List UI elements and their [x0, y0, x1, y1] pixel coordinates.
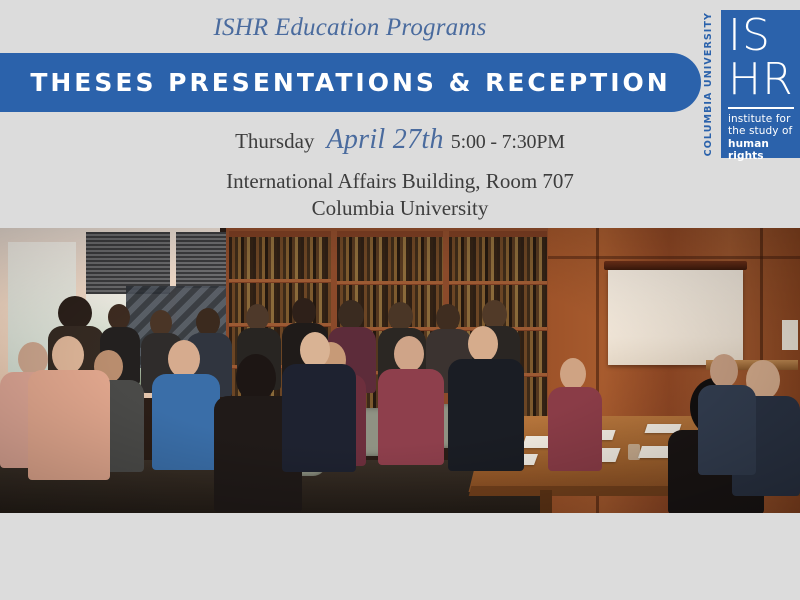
logo-divider — [728, 107, 794, 109]
event-weekday: Thursday — [235, 129, 314, 153]
event-date-line: ThursdayApril 27th5:00 - 7:30PM — [0, 124, 800, 156]
photo-wall-notice — [782, 320, 798, 350]
title-banner: Theses Presentations & Reception — [0, 53, 701, 112]
photo-projector-screen — [608, 270, 743, 365]
logo-letters-is: IS — [728, 15, 794, 59]
event-day: April 27th — [326, 124, 443, 155]
event-time: 5:00 - 7:30PM — [451, 131, 565, 153]
logo-letters-hr: HR — [728, 59, 794, 103]
photo-blind-upper-left — [86, 232, 170, 294]
banner-title: Theses Presentations & Reception — [16, 68, 670, 97]
event-photo — [0, 228, 800, 513]
photo-table-leg — [540, 490, 552, 513]
event-flyer: ISHR Education Programs Theses Presentat… — [0, 0, 800, 600]
photo-water-glass — [628, 444, 640, 460]
event-venue: International Affairs Building, Room 707… — [0, 168, 800, 222]
photo-panel-rail-top — [548, 256, 800, 259]
kicker-text: ISHR Education Programs — [0, 14, 700, 42]
event-venue-line2: Columbia University — [0, 195, 800, 222]
photo-projector-screen-case — [604, 261, 747, 270]
photo-scene — [0, 228, 800, 513]
event-venue-line1: International Affairs Building, Room 707 — [0, 168, 800, 195]
logo-letters: IS HR — [728, 15, 794, 103]
